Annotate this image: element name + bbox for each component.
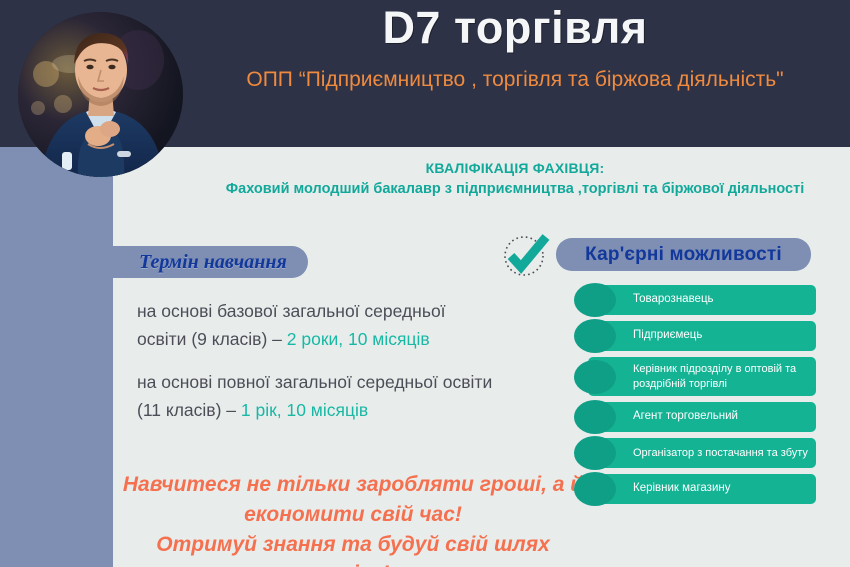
list-item[interactable]: Організатор з постачання та збуту (588, 438, 816, 468)
list-item[interactable]: Керівник підрозділу в оптовій та роздріб… (588, 357, 816, 396)
career-item-label: Організатор з постачання та збуту (588, 441, 814, 466)
slogan-block: Навчитеся не тільки заробляти гроші, а й… (118, 470, 588, 567)
term-item-2-value: 1 рік, 10 місяців (241, 400, 368, 420)
page-title: D7 торгівля (180, 4, 850, 51)
career-item-label: Підприємець (588, 323, 708, 348)
term-banner: Термін навчання (113, 246, 308, 278)
career-item-label: Агент торговельний (588, 404, 744, 429)
left-side-panel (0, 147, 113, 567)
program-subtitle: ОПП “Підприємництво , торгівля та біржов… (210, 66, 820, 94)
qualification-label: КВАЛІФІКАЦІЯ ФАХІВЦЯ: (200, 158, 830, 179)
career-list: Товарознавець Підприємець Керівник підро… (588, 285, 816, 510)
list-item[interactable]: Агент торговельний (588, 402, 816, 432)
slogan-line-1: Навчитеся не тільки заробляти гроші, а й… (123, 473, 583, 526)
term-item-1: на основі базової загальної середньої ос… (137, 297, 497, 354)
term-item-2: на основі повної загальної середньої осв… (137, 368, 497, 425)
list-item[interactable]: Підприємець (588, 321, 816, 351)
qualification-block: КВАЛІФІКАЦІЯ ФАХІВЦЯ: Фаховий молодший б… (200, 158, 830, 201)
list-item[interactable]: Товарознавець (588, 285, 816, 315)
career-item-label: Керівник підрозділу в оптовій та роздріб… (588, 357, 816, 396)
career-item-label: Товарознавець (588, 287, 720, 312)
term-banner-label: Термін навчання (113, 251, 287, 274)
qualification-text: Фаховий молодший бакалавр з підприємницт… (200, 179, 830, 201)
avatar (18, 12, 183, 177)
career-item-label: Керівник магазину (588, 476, 736, 501)
term-item-1-value: 2 роки, 10 місяців (287, 329, 430, 349)
list-item[interactable]: Керівник магазину (588, 474, 816, 504)
poster-canvas: D7 торгівля ОПП “Підприємництво , торгів… (0, 0, 850, 567)
portrait-photo-icon (18, 12, 183, 177)
check-mark-icon (500, 234, 552, 278)
career-banner: Кар'єрні можливості (556, 238, 811, 271)
career-banner-label: Кар'єрні можливості (585, 244, 782, 266)
slogan-line-2: Отримуй знання та будуй свій шлях успіху… (118, 530, 588, 567)
